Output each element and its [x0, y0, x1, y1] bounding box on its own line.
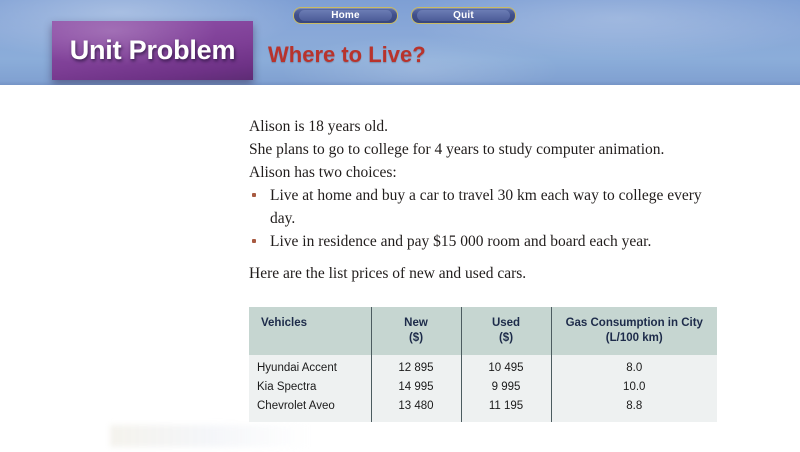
- cell-gas-consumption: 10.0: [551, 378, 717, 397]
- column-header-vehicles: Vehicles: [249, 307, 371, 355]
- cell-used-price: 9 995: [461, 378, 551, 397]
- cell-new-price: 14 995: [371, 378, 461, 397]
- column-header-new-line2: ($): [380, 331, 453, 346]
- column-header-used: Used ($): [461, 307, 551, 355]
- statement-line-3: Alison has two choices:: [249, 161, 719, 184]
- choices-list: Live at home and buy a car to travel 30 …: [249, 184, 719, 253]
- page-title: Where to Live?: [268, 42, 426, 68]
- unit-problem-tab: Unit Problem: [52, 21, 253, 80]
- choice-text-1: Live at home and buy a car to travel 30 …: [270, 187, 702, 227]
- content-area: Alison is 18 years old. She plans to go …: [0, 85, 800, 452]
- column-header-new: New ($): [371, 307, 461, 355]
- quit-button[interactable]: Quit: [411, 7, 516, 24]
- nav-button-group: Home Quit: [293, 7, 516, 24]
- unit-problem-label: Unit Problem: [70, 35, 236, 66]
- column-header-gas-line2: (L/100 km): [560, 331, 710, 346]
- column-header-vehicles-line1: Vehicles: [261, 316, 363, 331]
- column-header-new-line1: New: [380, 316, 453, 331]
- cell-gas-consumption: 8.8: [551, 397, 717, 422]
- table-header-row: Vehicles New ($) Used ($) Gas Consumptio…: [249, 307, 717, 355]
- vehicles-table-wrapper: Vehicles New ($) Used ($) Gas Consumptio…: [249, 307, 717, 422]
- bullet-icon: [252, 193, 256, 197]
- cell-new-price: 12 895: [371, 355, 461, 378]
- bullet-icon: [252, 239, 256, 243]
- cell-new-price: 13 480: [371, 397, 461, 422]
- cell-gas-consumption: 8.0: [551, 355, 717, 378]
- table-row: Chevrolet Aveo 13 480 11 195 8.8: [249, 397, 717, 422]
- home-button[interactable]: Home: [293, 7, 398, 24]
- column-header-gas-consumption: Gas Consumption in City (L/100 km): [551, 307, 717, 355]
- home-button-label: Home: [331, 11, 360, 21]
- column-header-used-line2: ($): [470, 331, 543, 346]
- cell-vehicle: Kia Spectra: [249, 378, 371, 397]
- choice-text-2: Live in residence and pay $15 000 room a…: [270, 233, 651, 250]
- cell-vehicle: Chevrolet Aveo: [249, 397, 371, 422]
- column-header-gas-line1: Gas Consumption in City: [560, 316, 710, 331]
- table-header: Vehicles New ($) Used ($) Gas Consumptio…: [249, 307, 717, 355]
- list-item: Live at home and buy a car to travel 30 …: [249, 184, 719, 230]
- quit-button-label: Quit: [453, 11, 474, 21]
- page-watermark: [110, 425, 310, 447]
- problem-statement: Alison is 18 years old. She plans to go …: [249, 115, 719, 253]
- cell-used-price: 10 495: [461, 355, 551, 378]
- statement-line-2: She plans to go to college for 4 years t…: [249, 138, 719, 161]
- list-item: Live in residence and pay $15 000 room a…: [249, 230, 719, 253]
- column-header-used-line1: Used: [470, 316, 543, 331]
- statement-line-1: Alison is 18 years old.: [249, 115, 719, 138]
- vehicles-table: Vehicles New ($) Used ($) Gas Consumptio…: [249, 307, 717, 422]
- table-row: Hyundai Accent 12 895 10 495 8.0: [249, 355, 717, 378]
- table-lead-in-text: Here are the list prices of new and used…: [249, 265, 526, 283]
- table-row: Kia Spectra 14 995 9 995 10.0: [249, 378, 717, 397]
- cell-used-price: 11 195: [461, 397, 551, 422]
- cell-vehicle: Hyundai Accent: [249, 355, 371, 378]
- table-body: Hyundai Accent 12 895 10 495 8.0 Kia Spe…: [249, 355, 717, 422]
